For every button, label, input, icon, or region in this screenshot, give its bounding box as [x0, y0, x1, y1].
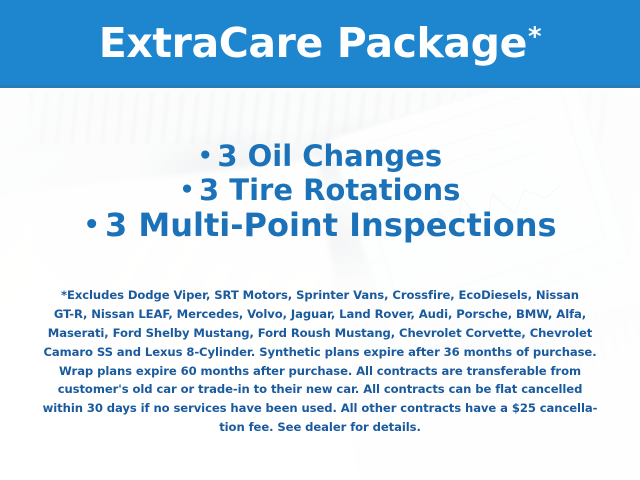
benefit-item-oil-changes: •3 Oil Changes [0, 140, 640, 174]
benefit-item-multi-point-inspections: •3 Multi-Point Inspections [0, 207, 640, 244]
disclaimer-line: customer's old car or trade-in to their … [22, 380, 618, 399]
page-title: ExtraCare Package* [0, 0, 640, 85]
benefit-item-label: 3 Multi-Point Inspections [105, 206, 557, 244]
page-title-text: ExtraCare Package [99, 19, 527, 67]
disclaimer-fineprint: *Excludes Dodge Viper, SRT Motors, Sprin… [22, 286, 618, 437]
bullet-dot-icon: • [83, 210, 99, 240]
disclaimer-line: within 30 days if no services have been … [22, 399, 618, 418]
bullet-dot-icon: • [198, 142, 213, 169]
disclaimer-line: tion fee. See dealer for details. [22, 418, 618, 437]
disclaimer-line: GT-R, Nissan LEAF, Mercedes, Volvo, Jagu… [22, 305, 618, 324]
benefit-item-label: 3 Oil Changes [217, 139, 442, 173]
extracare-package-promo-card: ExtraCare Package* •3 Oil Changes •3 Tir… [0, 0, 640, 480]
disclaimer-line: Maserati, Ford Shelby Mustang, Ford Rous… [22, 324, 618, 343]
bullet-dot-icon: • [180, 176, 195, 203]
disclaimer-line: Wrap plans expire 60 months after purcha… [22, 362, 618, 381]
benefit-item-tire-rotations: •3 Tire Rotations [0, 174, 640, 208]
header-divider-rule [0, 85, 640, 88]
disclaimer-line: *Excludes Dodge Viper, SRT Motors, Sprin… [22, 286, 618, 305]
benefits-list: •3 Oil Changes •3 Tire Rotations •3 Mult… [0, 140, 640, 244]
disclaimer-line: Camaro SS and Lexus 8-Cylinder. Syntheti… [22, 343, 618, 362]
benefit-item-label: 3 Tire Rotations [199, 173, 460, 207]
